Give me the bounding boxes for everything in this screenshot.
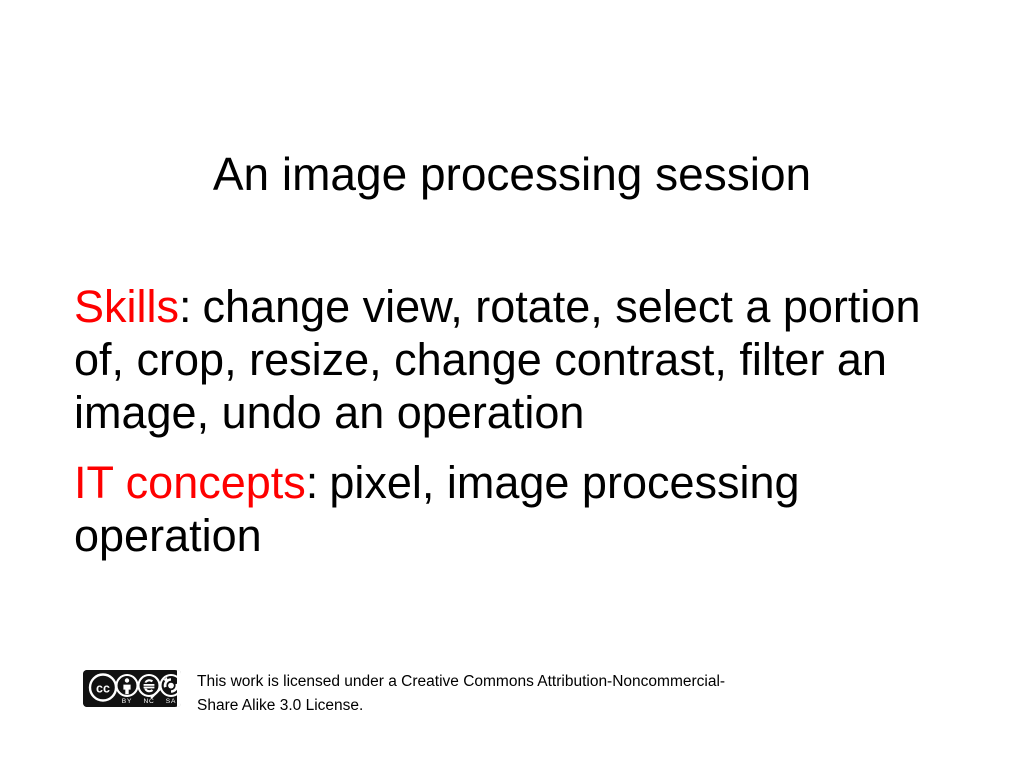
license-text: This work is licensed under a Creative C… <box>197 670 725 718</box>
bullet-separator: : <box>306 457 319 508</box>
svg-text:BY: BY <box>122 698 132 705</box>
bullet-separator: : <box>179 281 192 332</box>
creative-commons-badge-icon[interactable]: cc BY NC S <box>83 670 181 707</box>
bullet-skills: Skills:change view, rotate, select a por… <box>74 280 964 439</box>
license-footer: cc BY NC S <box>83 670 725 718</box>
license-text-line-2: Share Alike 3.0 License. <box>197 694 725 718</box>
svg-text:cc: cc <box>96 682 110 696</box>
slide-body: Skills:change view, rotate, select a por… <box>74 280 964 562</box>
bullet-it-concepts: IT concepts:pixel, image processing oper… <box>74 456 964 562</box>
page-title: An image processing session <box>0 148 1024 200</box>
svg-text:SA: SA <box>166 698 176 705</box>
license-text-line-1: This work is licensed under a Creative C… <box>197 670 725 694</box>
bullet-text-skills: change view, rotate, select a portion of… <box>74 281 920 438</box>
bullet-keyword-skills: Skills <box>74 281 179 332</box>
bullet-keyword-it-concepts: IT concepts <box>74 457 306 508</box>
slide-canvas: An image processing session Skills:chang… <box>0 0 1024 768</box>
svg-text:NC: NC <box>143 698 154 705</box>
